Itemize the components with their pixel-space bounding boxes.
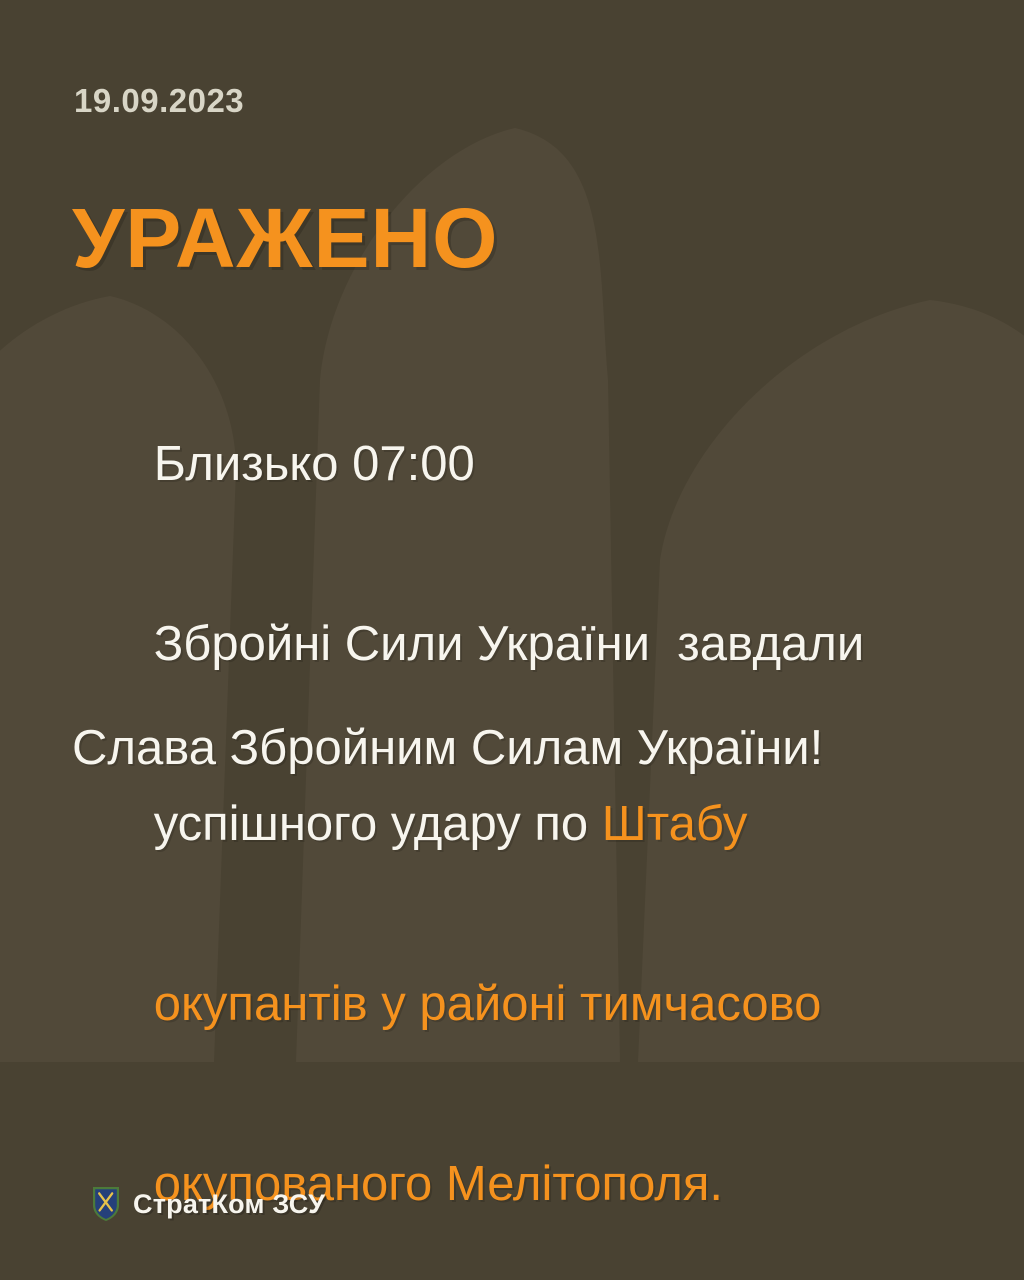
body-line-4: окупантів у районі тимчасово bbox=[72, 914, 1002, 1094]
body-line-4-text-highlight: окупантів у районі тимчасово bbox=[154, 977, 822, 1031]
headline-urazheno: УРАЖЕНО bbox=[72, 196, 499, 280]
slogan-text: Слава Збройним Силам України! bbox=[72, 718, 823, 778]
body-line-3-text-white: успішного удару по bbox=[154, 797, 602, 851]
body-line-1-text: Близько 07:00 bbox=[154, 437, 475, 491]
poster-content: 19.09.2023 УРАЖЕНО Близько 07:00 Збройні… bbox=[0, 0, 1024, 1280]
body-text-block: Близько 07:00 Збройні Сили України завда… bbox=[72, 374, 1002, 1274]
body-line-3-text-highlight: Штабу bbox=[602, 797, 748, 851]
publication-date: 19.09.2023 bbox=[74, 82, 244, 120]
footer-label: СтратКом ЗСУ bbox=[133, 1189, 325, 1220]
stratcom-shield-emblem-icon bbox=[92, 1186, 120, 1222]
body-line-1: Близько 07:00 bbox=[72, 374, 1002, 554]
body-line-5: окупованого Мелітополя. bbox=[72, 1094, 1002, 1274]
body-line-2: Збройні Сили України завдали bbox=[72, 554, 1002, 734]
footer-branding: СтратКом ЗСУ bbox=[92, 1186, 325, 1222]
body-line-2-text: Збройні Сили України завдали bbox=[154, 617, 865, 671]
